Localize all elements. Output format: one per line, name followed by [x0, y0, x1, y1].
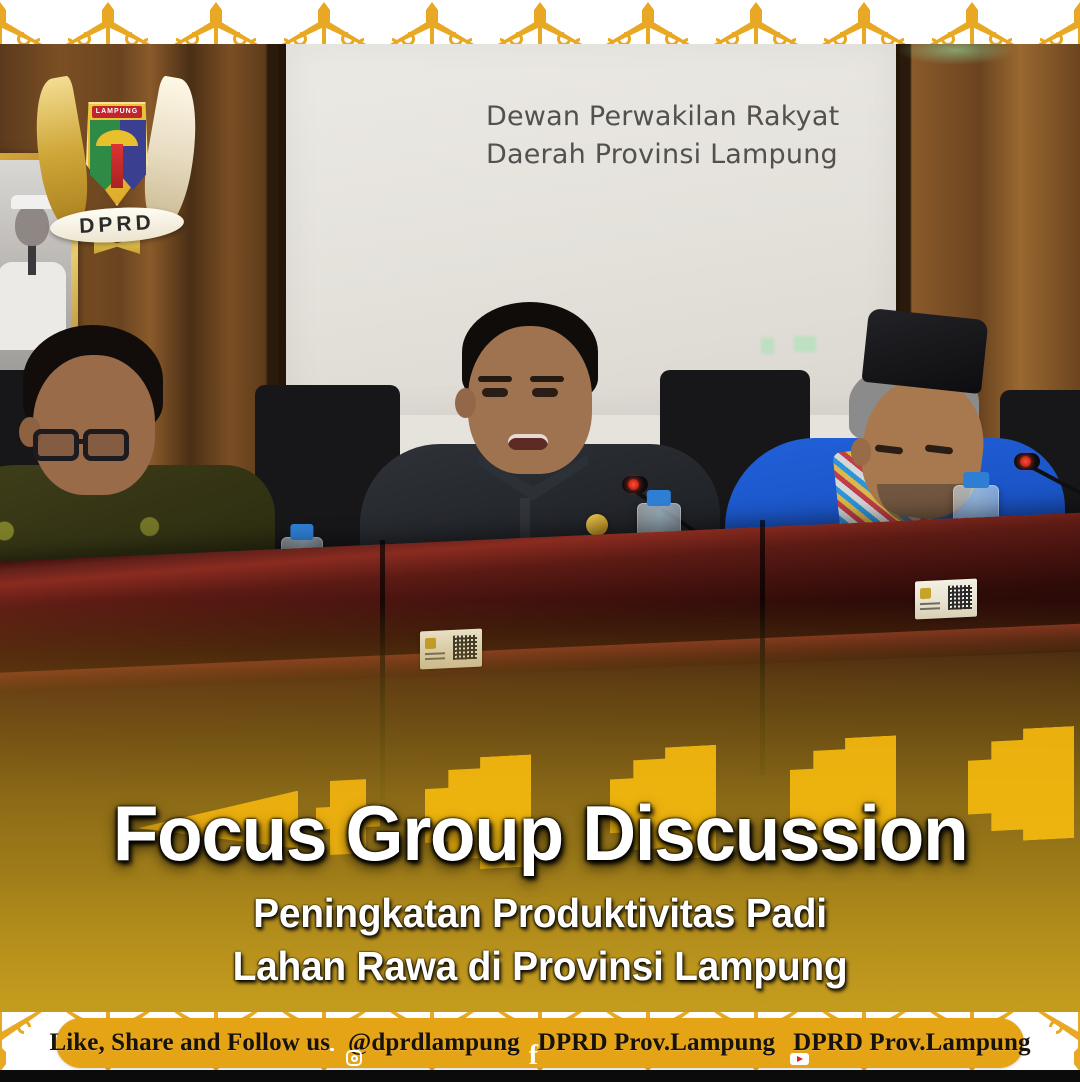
qr-code — [453, 635, 477, 660]
desk-qr-plaque — [420, 629, 482, 670]
person-center-lapel-pin — [586, 514, 608, 536]
person-left-eyeglasses — [33, 429, 79, 461]
person-right-ear — [851, 438, 871, 466]
emblem-wreath-left — [25, 75, 96, 231]
footer-cta-text: Like, Share and Follow us — [49, 1029, 330, 1057]
top-ornament-band — [0, 0, 1080, 44]
plaque-text-line — [425, 657, 445, 660]
lampung-tapis-border-top — [0, 0, 1080, 44]
person-center-eyebrow — [530, 376, 564, 382]
dprd-emblem: LAMPUNG DPRD — [32, 60, 200, 260]
desk-panel-seam — [760, 520, 765, 775]
poster-canvas: Dewan Perwakilan Rakyat Daerah Provinsi … — [0, 0, 1080, 1082]
plaque-logo — [425, 638, 436, 649]
projector-line-2: Daerah Provinsi Lampung — [486, 136, 956, 174]
person-center-eye — [482, 388, 508, 397]
conference-desk-front — [0, 650, 1080, 1035]
person-left-head — [33, 355, 155, 495]
plaque-text-line — [920, 602, 940, 605]
person-left-glasses-bridge — [77, 439, 87, 444]
person-center-eyebrow — [478, 376, 512, 382]
desk-qr-plaque — [915, 579, 977, 620]
desk-panel-seam — [380, 540, 385, 800]
bottom-base-bar — [0, 1070, 1080, 1082]
person-center-head — [468, 326, 592, 474]
person-left-eyeglasses — [83, 429, 129, 461]
emblem-province-label: LAMPUNG — [92, 106, 142, 118]
projector-screen-text: Dewan Perwakilan Rakyat Daerah Provinsi … — [486, 98, 956, 175]
plaque-text-line — [920, 607, 940, 610]
person-center-eye — [532, 388, 558, 397]
instagram-handle[interactable]: @dprdlampung — [348, 1029, 520, 1057]
person-center-mouth — [508, 434, 548, 450]
person-center-ear — [455, 388, 476, 418]
plaque-text-line — [425, 652, 445, 655]
microphone-indicator-light — [1020, 456, 1031, 467]
social-media-footer: Like, Share and Follow us @dprdlampung D… — [56, 1018, 1024, 1068]
qr-code — [948, 585, 972, 610]
emblem-ribbon-label: DPRD — [79, 211, 156, 239]
plaque-logo — [920, 588, 931, 599]
emblem-pillar — [111, 144, 123, 188]
microphone-indicator-light — [628, 479, 639, 490]
projector-line-1: Dewan Perwakilan Rakyat — [486, 98, 956, 136]
youtube-handle[interactable]: DPRD Prov.Lampung — [793, 1029, 1030, 1057]
event-photograph: Dewan Perwakilan Rakyat Daerah Provinsi … — [0, 40, 1080, 1035]
facebook-handle[interactable]: DPRD Prov.Lampung — [538, 1029, 775, 1057]
person-right-peci-cap — [861, 308, 988, 394]
